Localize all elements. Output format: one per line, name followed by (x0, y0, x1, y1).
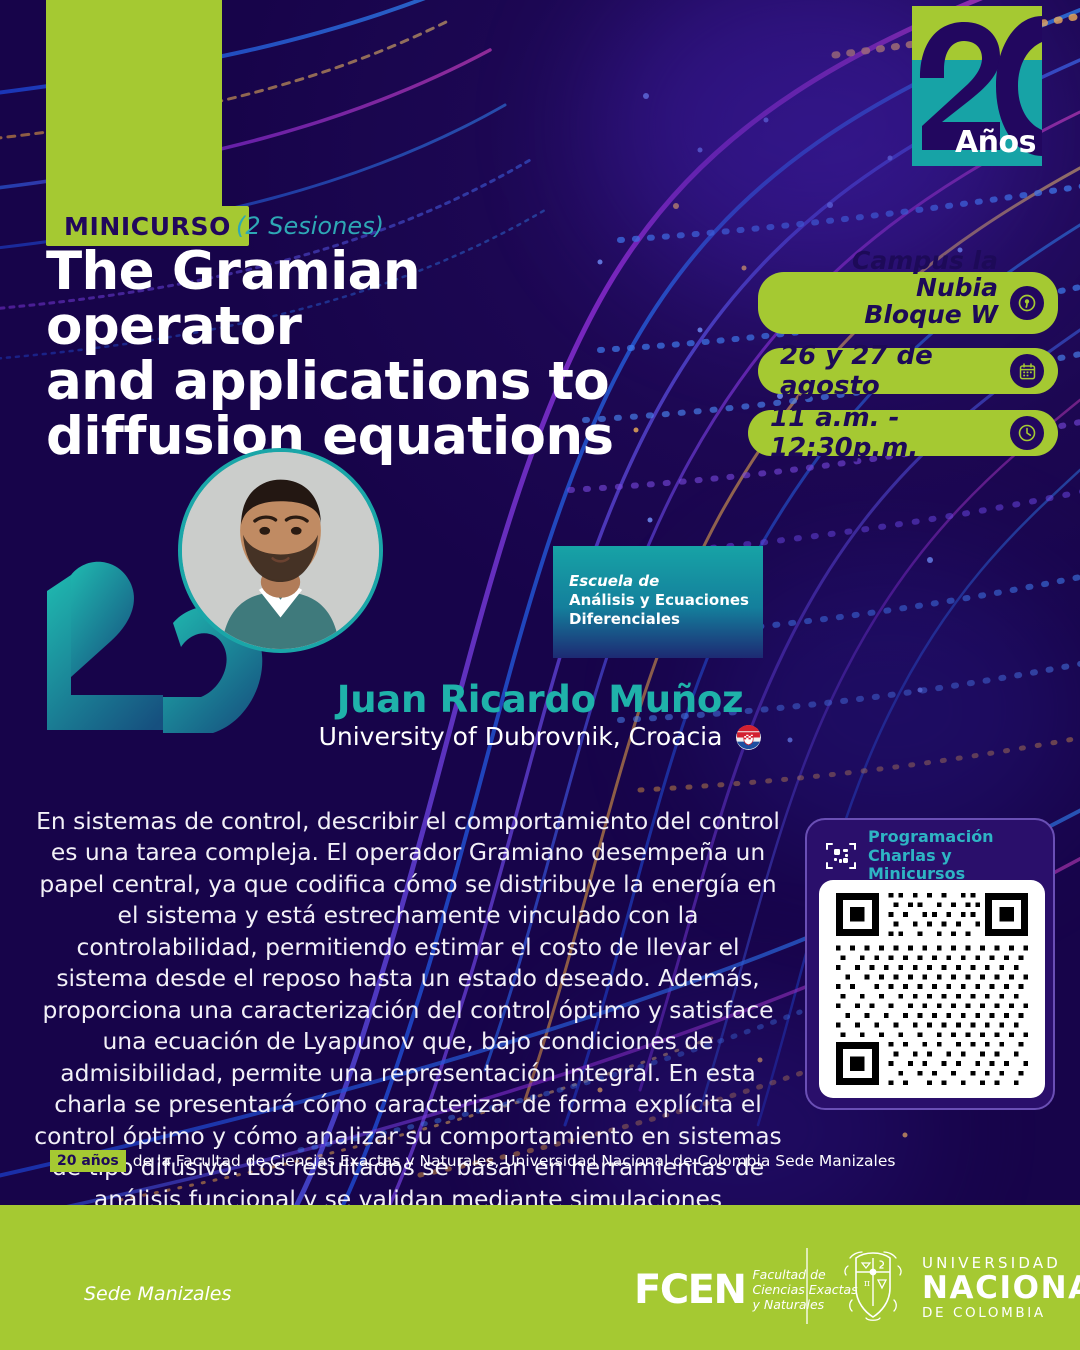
unal-wordmark: UNIVERSIDAD NACIONAL DE COLOMBIA (922, 1255, 1080, 1322)
credit-line: 20 años de la Facultad de Ciencias Exact… (50, 1150, 895, 1172)
qr-card[interactable]: Programación Charlas y Minicursos (805, 818, 1055, 1110)
title-line-2: and applications to (46, 354, 666, 409)
event-poster: Años MINICURSO (2 Sesiones) The Gramian … (0, 0, 1080, 1350)
speaker-avatar (178, 448, 383, 653)
location-pin-icon (1010, 286, 1044, 320)
title-line-1: The Gramian operator (46, 244, 666, 354)
speaker-affiliation-text: University of Dubrovnik, Croacia (319, 722, 723, 751)
anniversary-label: Años (955, 125, 1036, 160)
venue-pill: Campus la Nubia Bloque W (758, 272, 1058, 334)
sede-label: Sede Manizales (84, 1283, 231, 1305)
qr-title-line-1: Programación (868, 828, 1041, 847)
school-line-1: Escuela de (569, 572, 749, 591)
fcen-wordmark: FCEN (634, 1270, 745, 1310)
qr-code[interactable] (819, 880, 1045, 1098)
credit-badge: 20 años (50, 1150, 126, 1172)
fcen-logo: FCEN Facultad de Ciencias Exactas y Natu… (634, 1268, 858, 1312)
qr-header: Programación Charlas y Minicursos (819, 832, 1041, 880)
unal-line-1: UNIVERSIDAD (922, 1255, 1080, 1272)
school-line-3: Diferenciales (569, 610, 749, 629)
clock-icon (1010, 416, 1044, 450)
school-label: Escuela de Análisis y Ecuaciones Diferen… (553, 546, 763, 658)
svg-text:π: π (864, 1279, 870, 1289)
unal-line-2: NACIONAL (922, 1271, 1080, 1306)
page-title: The Gramian operator and applications to… (46, 244, 666, 464)
time-pill: 11 a.m. - 12:30p.m. (748, 410, 1058, 456)
date-text: 26 y 27 de agosto (780, 341, 1012, 401)
abstract-text: En sistemas de control, describir el com… (28, 806, 788, 1247)
unal-line-3: DE COLOMBIA (922, 1306, 1080, 1321)
credit-text: de la Facultad de Ciencias Exactas y Nat… (133, 1152, 896, 1170)
footer-divider (806, 1248, 808, 1324)
qr-title: Programación Charlas y Minicursos (868, 828, 1041, 885)
venue-line-1: Campus la Nubia (774, 247, 998, 301)
speaker-name: Juan Ricardo Muñoz (0, 678, 1080, 721)
unal-logo: π UNIVERSIDAD NACIONAL DE COLOMBIA (838, 1248, 1080, 1328)
unal-shield-icon: π (838, 1248, 908, 1328)
croatia-flag-icon (736, 725, 761, 750)
time-text: 11 a.m. - 12:30p.m. (770, 403, 1012, 463)
venue-line-2: Bloque W (864, 301, 998, 328)
calendar-icon (1010, 354, 1044, 388)
anniversary-logo: Años (912, 6, 1042, 166)
school-line-2: Análisis y Ecuaciones (569, 591, 749, 610)
kicker-badge: MINICURSO (46, 206, 249, 246)
qr-title-line-2: Charlas y Minicursos (868, 847, 1041, 885)
speaker-affiliation: University of Dubrovnik, Croacia (0, 722, 1080, 751)
speaker-photo (182, 452, 379, 649)
sessions-label: (2 Sesiones) (236, 212, 384, 240)
qr-scan-icon (823, 838, 859, 874)
date-pill: 26 y 27 de agosto (758, 348, 1058, 394)
